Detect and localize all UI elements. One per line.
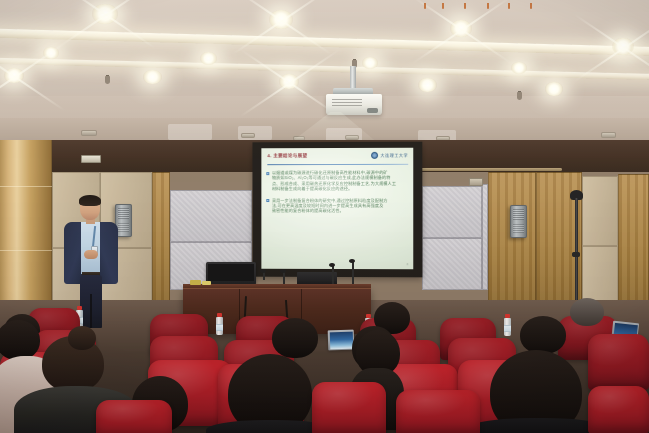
downlight-icon [612, 38, 634, 55]
podium-monitor [206, 262, 256, 285]
water-bottle[interactable] [504, 318, 511, 336]
downlight-icon [92, 4, 118, 24]
podium-microphone [352, 262, 354, 286]
monitor-screen [208, 264, 254, 281]
curtain-hook-icon [464, 3, 466, 9]
slide-bullets: 以烟道或煤为碳源进行碳化还原制备高性能材料中,碳源中的矿 物质如SiO₂、Al₂… [266, 170, 408, 220]
downlight-icon [269, 10, 293, 29]
bottle-label [504, 325, 511, 332]
auditorium-seat[interactable] [96, 400, 172, 433]
wall-panel-wood [618, 174, 649, 314]
curtain-hook-icon [487, 3, 489, 9]
auditorium-seat[interactable] [588, 334, 649, 390]
logo-text: 大连理工大学 [380, 152, 408, 158]
downlight-icon [450, 20, 472, 37]
air-vent-icon [81, 130, 97, 136]
desk-object [202, 281, 211, 285]
desk-object [190, 280, 201, 285]
wood-column [0, 140, 52, 325]
sprinkler-head-icon [517, 92, 522, 100]
audience-shoulders [468, 418, 608, 433]
air-vent-icon [601, 132, 616, 138]
downlight-icon [418, 78, 437, 92]
laptop-screen [329, 331, 353, 349]
curtain-hook-icon [530, 3, 532, 9]
bottle-cap [505, 314, 510, 318]
acoustic-panel [422, 186, 482, 238]
air-vent-icon [241, 133, 255, 138]
podium-microphone [332, 266, 334, 286]
audience-head [272, 318, 318, 358]
microphone-head-icon [349, 259, 355, 263]
downlight-icon [200, 52, 217, 65]
presenter-hands [84, 250, 98, 259]
column-seam [0, 186, 52, 187]
exit-sign [81, 155, 101, 163]
bottle-cap [77, 306, 82, 310]
acoustic-panel [170, 190, 252, 242]
auditorium-seat[interactable] [312, 382, 386, 433]
bullet-line: 致密性能的复合粉体的提高碳化活性。 [272, 208, 408, 213]
stage-microphone [263, 272, 265, 280]
curtain-rod [412, 168, 562, 171]
presentation-slide: 4. 主要结论与展望 大连理工大学 以烟道或煤为碳源进行碳化还原制备高性能材料中… [261, 148, 413, 270]
screen-surface: 4. 主要结论与展望 大连理工大学 以烟道或煤为碳源进行碳化还原制备高性能材料中… [261, 148, 413, 270]
column-seam [0, 250, 52, 251]
ceiling-panel [168, 124, 212, 140]
university-logo: 大连理工大学 [371, 152, 408, 159]
curtain-hook-icon [508, 3, 510, 9]
bullet-block: 采用一步法制备复合粉体的研究中,通过控制原料粒度及配制方 法,可在更高温度及较短… [266, 198, 408, 214]
bullet-line: 材料制备生成向着于提高碳化反应的途径。 [272, 186, 408, 192]
bottle-label [216, 324, 223, 331]
audience-head [520, 316, 566, 354]
logo-mark-icon [371, 152, 378, 159]
wall-speaker [510, 205, 527, 238]
wall-panel-wood [152, 172, 170, 312]
slide-page-number: 8 [407, 262, 409, 266]
audience-head [570, 298, 604, 326]
microphone-head-icon [280, 269, 286, 273]
auditorium-seat[interactable] [396, 390, 480, 433]
bullet-square-icon [266, 199, 269, 202]
projector-lens-icon [367, 108, 378, 113]
downlight-icon [4, 68, 24, 83]
water-bottle[interactable] [216, 317, 223, 335]
downlight-icon [143, 70, 162, 84]
projector-label [332, 99, 362, 106]
wall-control-plate[interactable] [469, 178, 483, 186]
microphone-head-icon [329, 263, 335, 267]
presenter-leg-gap [90, 294, 92, 328]
microphone-head-icon [260, 269, 266, 273]
curtain-hook-icon [442, 3, 444, 9]
auditorium-seat[interactable] [588, 386, 649, 433]
projection-screen: 4. 主要结论与展望 大连理工大学 以烟道或煤为碳源进行碳化还原制备高性能材料中… [252, 142, 422, 278]
bullet-text: 采用一步法制备复合粉体的研究中,通过控制原料粒度及配制方 法,可在更高温度及较短… [272, 198, 408, 214]
bullet-square-icon [266, 172, 269, 175]
slide-divider [267, 164, 408, 165]
tripod-adjust-knob[interactable] [572, 252, 580, 257]
curtain-hook-icon [424, 3, 426, 9]
downlight-icon [362, 57, 378, 69]
auditorium-photo: 4. 主要结论与展望 大连理工大学 以烟道或煤为碳源进行碳化还原制备高性能材料中… [0, 0, 649, 433]
projector [326, 94, 382, 115]
downlight-icon [545, 82, 563, 96]
wall-panel-wood [488, 172, 536, 314]
audience-laptop[interactable] [328, 330, 355, 351]
sprinkler-head-icon [105, 76, 110, 84]
downlight-icon [511, 62, 527, 74]
bullet-text: 以烟道或煤为碳源进行碳化还原制备高性能材料中,碳源中的矿 物质如SiO₂、Al₂… [272, 170, 408, 192]
acoustic-panel [422, 238, 482, 290]
downlight-icon [279, 74, 299, 89]
presenter-hair [79, 195, 101, 206]
bottle-cap [217, 313, 222, 317]
downlight-icon [43, 47, 59, 59]
wall-panel-tan [582, 176, 618, 246]
bullet-block: 以烟道或煤为碳源进行碳化还原制备高性能材料中,碳源中的矿 物质如SiO₂、Al₂… [266, 170, 408, 192]
audience-head [0, 320, 40, 360]
audience-hair-bun [68, 326, 96, 350]
